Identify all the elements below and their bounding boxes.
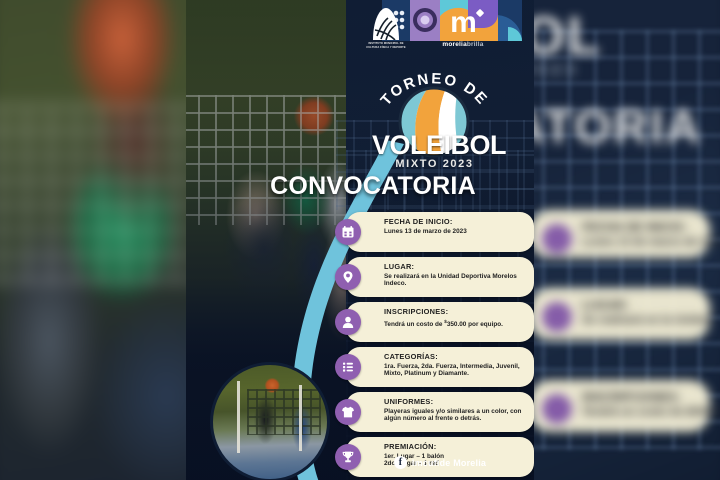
morelia-m-mark: m: [450, 8, 476, 38]
poster-panel: INSTITUTO MUNICIPAL DE CULTURA FÍSICA Y …: [186, 0, 534, 480]
page-title: CONVOCATORIA: [186, 172, 534, 201]
backdrop-ghost-card-icon: [542, 302, 572, 332]
backdrop-left-net: [0, 106, 200, 285]
volleyball-players-circle-photo: [210, 362, 330, 480]
imcufide-caption: INSTITUTO MUNICIPAL DE CULTURA FÍSICA Y …: [364, 42, 408, 49]
backdrop-ghost-card-body: Tendrá un costo de $350.00: [582, 406, 720, 418]
calendar-icon: [335, 219, 361, 245]
card-title: UNIFORMES:: [384, 397, 526, 406]
info-cards-list: FECHA DE INICIO: Lunes 13 de marzo de 20…: [346, 212, 534, 480]
logos-row: INSTITUTO MUNICIPAL DE CULTURA FÍSICA Y …: [186, 2, 534, 62]
card-lugar: LUGAR: Se realizará en la Unidad Deporti…: [346, 257, 534, 297]
card-categorias: CATEGORÍAS: 1ra. Fuerza, 2da. Fuerza, In…: [346, 347, 534, 387]
card-body-pre: Tendrá un costo de: [384, 321, 444, 328]
card-fecha-de-inicio: FECHA DE INICIO: Lunes 13 de marzo de 20…: [346, 212, 534, 252]
card-title: PREMIACIÓN:: [384, 442, 526, 451]
tshirt-icon: [335, 399, 361, 425]
morelia-brilla-logo: m moreliabrilla: [432, 8, 494, 58]
emblem-subtitle: MIXTO 2023: [372, 158, 497, 170]
card-title: CATEGORÍAS:: [384, 352, 526, 361]
card-body: Tendrá un costo de $350.00 por equipo.: [384, 318, 526, 329]
inset-pole-right: [299, 385, 302, 451]
morelia-word-bold: morelia: [442, 41, 467, 48]
backdrop-ghost-card-body: Lunes 13 de marzo de 2023: [582, 236, 720, 248]
list-icon: [335, 354, 361, 380]
card-body: 1ra. Fuerza, 2da. Fuerza, Intermedia, Ju…: [384, 363, 526, 378]
card-body: Lunes 13 de marzo de 2023: [384, 228, 526, 236]
poster-screenshot: BOL MIXTO 2023 ATORIA FECHA DE INICIO: L…: [0, 0, 720, 480]
backdrop-ghost-heading: ATORIA: [510, 100, 702, 155]
morelia-wordmark: moreliabrilla: [432, 41, 494, 48]
morelia-m-letter: m: [450, 6, 476, 39]
tournament-emblem: TORNEO DE VOLEIBOL: [372, 68, 497, 168]
morelia-spark-icon: [476, 9, 484, 17]
morelia-word-light: brilla: [467, 41, 484, 48]
backdrop-ghost-card: LUGAR: Se realizará en la Unidad: [530, 288, 710, 340]
inset-pole-left: [237, 381, 240, 453]
facebook-icon[interactable]: f: [394, 456, 407, 469]
backdrop-ghost-card: FECHA DE INICIO: Lunes 13 de marzo de 20…: [530, 210, 710, 258]
imcufide-emblem-icon: [370, 6, 402, 40]
card-body-post: 350.00 por equipo.: [447, 321, 503, 328]
social-footer[interactable]: f Imcufide Morelia: [346, 456, 534, 469]
emblem-title: VOLEIBOL: [372, 132, 497, 159]
card-title: LUGAR:: [384, 262, 526, 271]
backdrop-ghost-card-title: INSCRIPCIONES:: [582, 390, 681, 404]
inset-photo-net: [247, 389, 321, 435]
card-body: Playeras iguales y/o similares a un colo…: [384, 408, 526, 423]
card-inscripciones: INSCRIPCIONES: Tendrá un costo de $350.0…: [346, 302, 534, 342]
card-body: Se realizará en la Unidad Deportiva More…: [384, 273, 526, 288]
social-handle[interactable]: Imcufide Morelia: [412, 458, 486, 468]
page-title-text: CONVOCATORIA: [244, 172, 476, 200]
backdrop-ghost-card: INSCRIPCIONES: Tendrá un costo de $350.0…: [530, 380, 710, 432]
backdrop-ghost-card-body: Se realizará en la Unidad: [582, 314, 712, 326]
card-title: INSCRIPCIONES:: [384, 307, 526, 316]
person-icon: [335, 309, 361, 335]
backdrop-ghost-card-title: FECHA DE INICIO:: [582, 220, 687, 234]
imcufide-logo: INSTITUTO MUNICIPAL DE CULTURA FÍSICA Y …: [364, 6, 408, 58]
backdrop-ghost-card-icon: [542, 394, 572, 424]
card-uniformes: UNIFORMES: Playeras iguales y/o similare…: [346, 392, 534, 432]
backdrop-ghost-card-title: LUGAR:: [582, 298, 629, 312]
map-pin-icon: [335, 264, 361, 290]
card-title: FECHA DE INICIO:: [384, 217, 526, 226]
backdrop-ghost-card-icon: [542, 224, 572, 254]
